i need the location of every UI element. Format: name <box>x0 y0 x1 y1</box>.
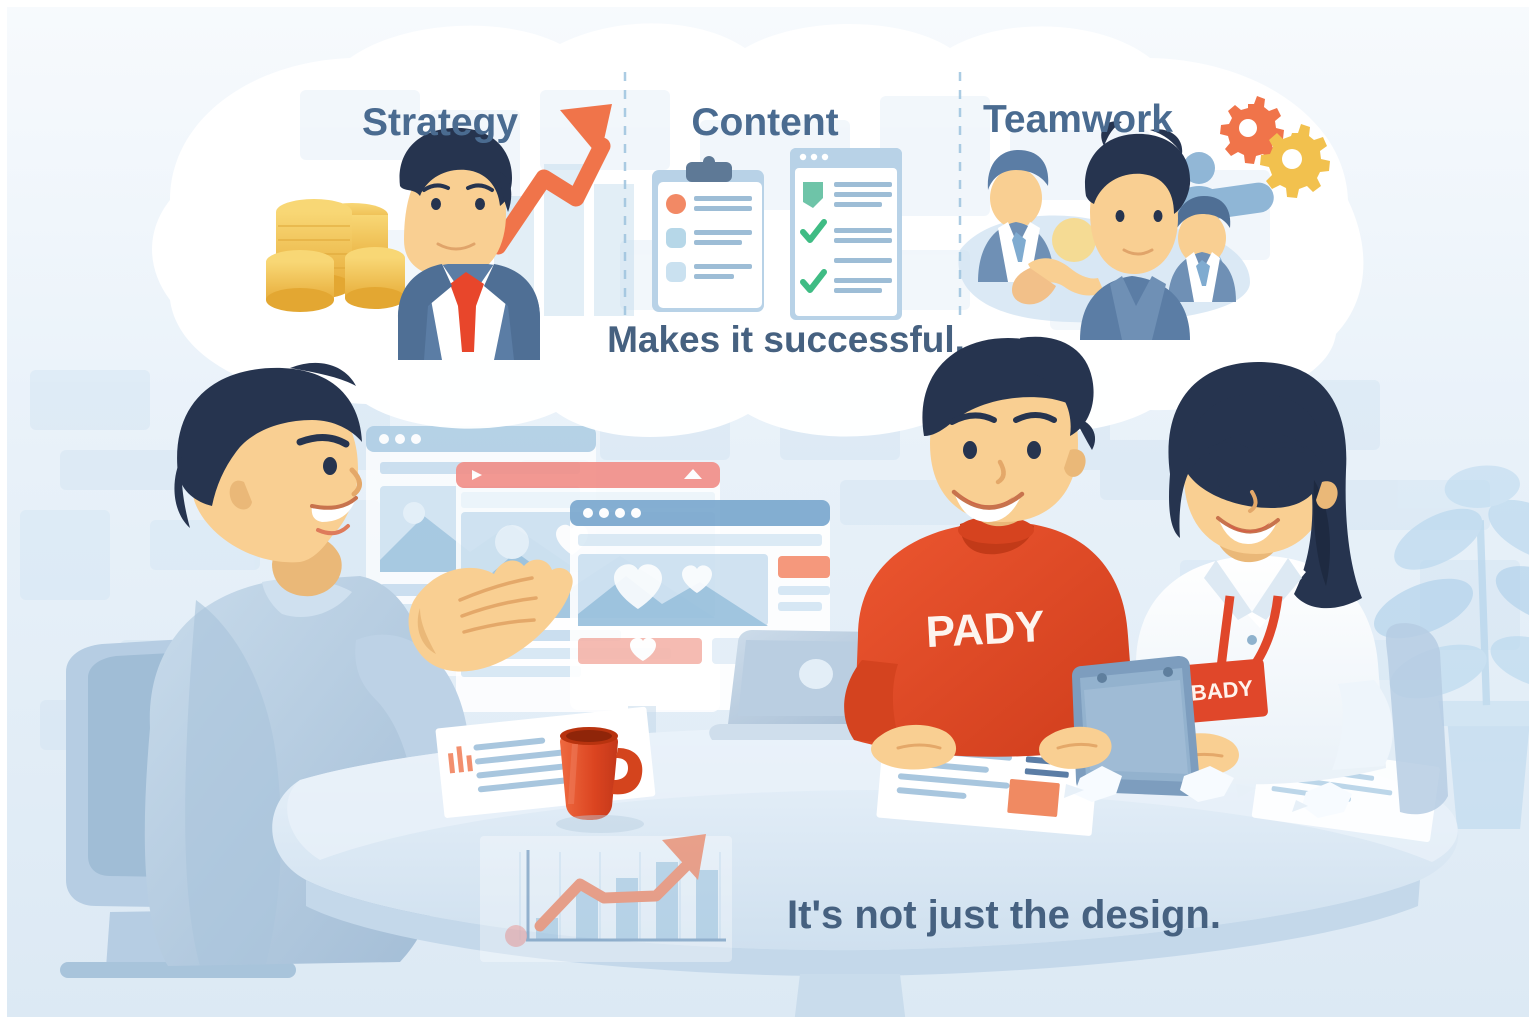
shirt-logo-text: PADY <box>925 602 1046 657</box>
lightbulb-icon <box>1052 218 1096 262</box>
bubble-caption: Makes it successful. <box>607 319 965 360</box>
panel-label-teamwork: Teamwork <box>983 98 1173 141</box>
checklist-window-icon <box>790 148 902 320</box>
panel-label-content: Content <box>691 101 838 144</box>
growth-bar-chart <box>480 834 732 962</box>
coin-stack-icon <box>266 199 405 312</box>
teamwork-main-person-icon <box>1080 121 1190 340</box>
clipboard-icon <box>652 156 764 312</box>
scene-caption: It's not just the design. <box>787 893 1221 937</box>
panel-label-strategy: Strategy <box>362 101 518 144</box>
chart-dot <box>505 925 527 947</box>
illustration-canvas: Strategy Content Teamwork Makes it succe… <box>0 0 1536 1024</box>
